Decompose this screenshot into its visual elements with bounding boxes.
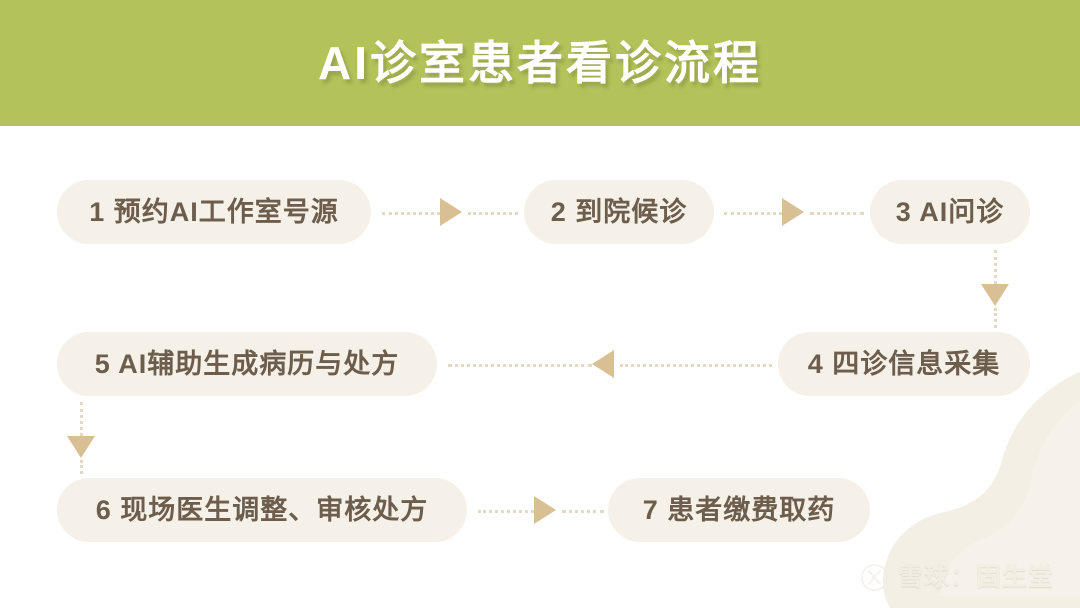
flow-node-7-label: 7 患者缴费取药	[643, 497, 836, 524]
flow-node-1[interactable]: 1 预约AI工作室号源	[57, 180, 371, 244]
leaf-decoration-icon	[840, 364, 1080, 608]
flowchart-page: AI诊室患者看诊流程 1 预约AI工作室号源 2 到院候诊 3 AI问诊 4 四…	[0, 0, 1080, 608]
arrow-down-icon-5-to-6	[67, 436, 95, 458]
connector-3-to-4-segment-a	[994, 250, 997, 284]
page-title: AI诊室患者看诊流程	[318, 40, 762, 86]
arrow-right-icon-1-to-2	[440, 198, 462, 226]
snowball-logo-icon	[860, 563, 889, 592]
flow-node-3[interactable]: 3 AI问诊	[870, 180, 1030, 244]
flow-node-5-label: 5 AI辅助生成病历与处方	[95, 351, 400, 378]
arrow-right-icon-6-to-7	[534, 496, 556, 524]
watermark: 雪球：固生堂	[860, 563, 1054, 592]
connector-1-to-2-segment-a	[382, 212, 440, 215]
connector-5-to-6-segment-b	[80, 460, 83, 474]
flow-node-4[interactable]: 4 四诊信息采集	[778, 332, 1030, 396]
flow-canvas: 1 预约AI工作室号源 2 到院候诊 3 AI问诊 4 四诊信息采集 5 AI辅…	[0, 126, 1080, 608]
connector-6-to-7-segment-a	[478, 510, 534, 513]
flow-node-7[interactable]: 7 患者缴费取药	[608, 478, 870, 542]
connector-6-to-7-segment-b	[562, 510, 604, 513]
connector-2-to-3-segment-b	[810, 212, 864, 215]
flow-node-2[interactable]: 2 到院候诊	[524, 180, 714, 244]
connector-4-to-5-segment-a	[448, 364, 592, 367]
flow-node-1-label: 1 预约AI工作室号源	[89, 199, 339, 226]
flow-node-3-label: 3 AI问诊	[896, 199, 1005, 226]
flow-node-6-label: 6 现场医生调整、审核处方	[96, 497, 429, 524]
connector-2-to-3-segment-a	[724, 212, 782, 215]
connector-1-to-2-segment-b	[468, 212, 518, 215]
header-banner: AI诊室患者看诊流程	[0, 0, 1080, 126]
connector-5-to-6-segment-a	[80, 402, 83, 436]
flow-node-4-label: 4 四诊信息采集	[808, 351, 1001, 378]
flow-node-6[interactable]: 6 现场医生调整、审核处方	[57, 478, 467, 542]
connector-4-to-5-segment-b	[620, 364, 772, 367]
watermark-text: 雪球：固生堂	[898, 565, 1054, 590]
connector-3-to-4-segment-b	[994, 308, 997, 328]
arrow-left-icon-4-to-5	[592, 350, 614, 378]
flow-node-2-label: 2 到院候诊	[551, 199, 688, 226]
arrow-down-icon-3-to-4	[981, 284, 1009, 306]
flow-node-5[interactable]: 5 AI辅助生成病历与处方	[57, 332, 437, 396]
arrow-right-icon-2-to-3	[782, 198, 804, 226]
